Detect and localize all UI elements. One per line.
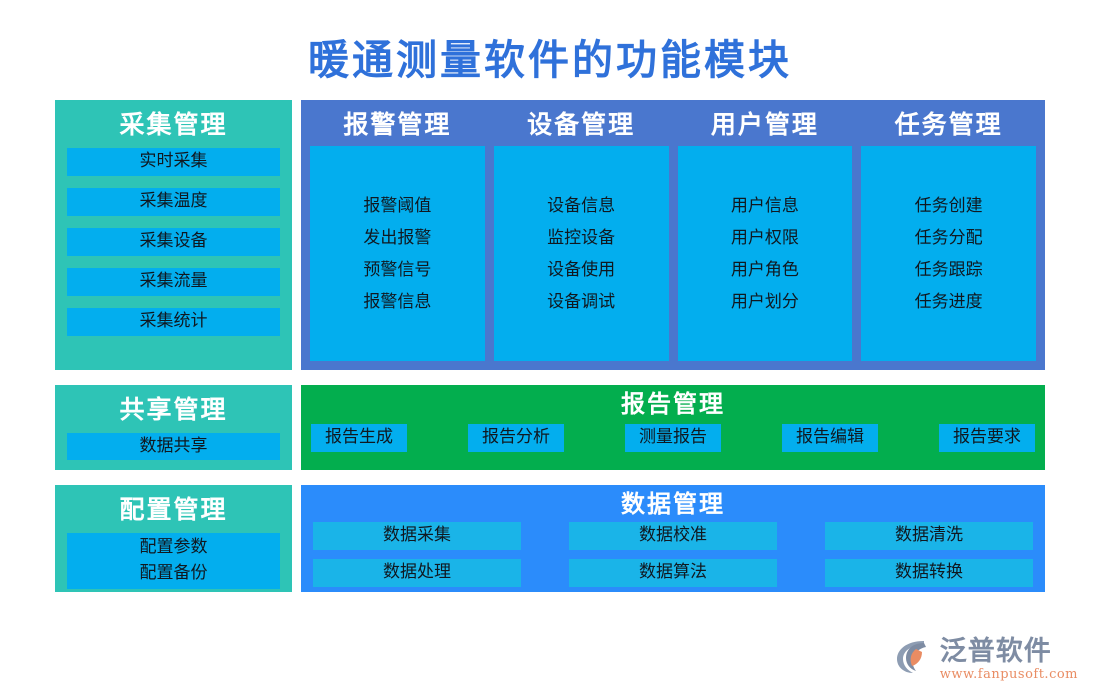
sub-item-monitor-device[interactable]: 监控设备 bbox=[547, 227, 615, 249]
sub-item-user-info[interactable]: 用户信息 bbox=[731, 195, 799, 217]
panel-title-sharing-management: 共享管理 bbox=[119, 393, 227, 427]
panel-config-management[interactable]: 配置管理 配置参数 配置备份 bbox=[55, 485, 292, 592]
sub-item-alarm-threshold[interactable]: 报警阈值 bbox=[363, 195, 431, 217]
panel-title-task-management: 任务管理 bbox=[861, 106, 1036, 144]
diagram-canvas: 暖通测量软件的功能模块 采集管理 实时采集 采集温度 采集设备 采集流量 采集统… bbox=[0, 0, 1100, 700]
chip-group-config-items[interactable]: 配置参数 配置备份 bbox=[67, 533, 280, 589]
sub-item-warning-signal[interactable]: 预警信号 bbox=[363, 259, 431, 281]
panel-title-user-management: 用户管理 bbox=[678, 106, 853, 144]
panel-title-data-management: 数据管理 bbox=[313, 488, 1033, 520]
data-cell-data-cleaning[interactable]: 数据清洗 bbox=[825, 522, 1033, 550]
data-cell-data-processing[interactable]: 数据处理 bbox=[313, 559, 521, 587]
panel-collection-management[interactable]: 采集管理 实时采集 采集温度 采集设备 采集流量 采集统计 bbox=[55, 100, 292, 370]
sub-item-issue-alarm[interactable]: 发出报警 bbox=[363, 227, 431, 249]
data-cell-data-calibration[interactable]: 数据校准 bbox=[569, 522, 777, 550]
panel-alarm-management[interactable]: 报警管理 报警阈值 发出报警 预警信号 报警信息 bbox=[310, 106, 485, 361]
sub-item-device-info[interactable]: 设备信息 bbox=[547, 195, 615, 217]
panel-core-modules: 报警管理 报警阈值 发出报警 预警信号 报警信息 设备管理 设备信息 监控设备 … bbox=[301, 100, 1045, 370]
sub-box-alarm-management: 报警阈值 发出报警 预警信号 报警信息 bbox=[310, 146, 485, 361]
logo-website-url: www.fanpusoft.com bbox=[940, 666, 1078, 684]
button-report-requirements[interactable]: 报告要求 bbox=[939, 424, 1035, 452]
panel-report-management: 报告管理 报告生成 报告分析 测量报告 报告编辑 报告要求 bbox=[301, 385, 1045, 470]
row-sharing-and-report: 共享管理 数据共享 报告管理 报告生成 报告分析 测量报告 报告编辑 报告要求 bbox=[55, 385, 1045, 470]
panel-sharing-management[interactable]: 共享管理 数据共享 bbox=[55, 385, 292, 470]
button-report-generate[interactable]: 报告生成 bbox=[311, 424, 407, 452]
button-report-analysis[interactable]: 报告分析 bbox=[468, 424, 564, 452]
data-cell-data-collection[interactable]: 数据采集 bbox=[313, 522, 521, 550]
page-title: 暖通测量软件的功能模块 bbox=[0, 26, 1100, 86]
panel-title-alarm-management: 报警管理 bbox=[310, 106, 485, 144]
chip-collect-flow[interactable]: 采集流量 bbox=[67, 268, 280, 296]
sub-item-user-grouping[interactable]: 用户划分 bbox=[731, 291, 799, 313]
row-collection-and-modules: 采集管理 实时采集 采集温度 采集设备 采集流量 采集统计 报警管理 报警阈值 … bbox=[55, 100, 1045, 370]
chip-realtime-collection[interactable]: 实时采集 bbox=[67, 148, 280, 176]
data-cell-data-conversion[interactable]: 数据转换 bbox=[825, 559, 1033, 587]
sub-item-task-progress[interactable]: 任务进度 bbox=[915, 291, 983, 313]
button-measurement-report[interactable]: 测量报告 bbox=[625, 424, 721, 452]
panel-data-management: 数据管理 数据采集 数据校准 数据清洗 数据处理 数据算法 数据转换 bbox=[301, 485, 1045, 592]
panel-user-management[interactable]: 用户管理 用户信息 用户权限 用户角色 用户划分 bbox=[678, 106, 853, 361]
logo-company-name: 泛普软件 bbox=[940, 637, 1078, 666]
logo-text-block: 泛普软件 www.fanpusoft.com bbox=[940, 637, 1078, 684]
panel-title-report-management: 报告管理 bbox=[311, 388, 1035, 420]
panel-device-management[interactable]: 设备管理 设备信息 监控设备 设备使用 设备调试 bbox=[494, 106, 669, 361]
row-config-and-data: 配置管理 配置参数 配置备份 数据管理 数据采集 数据校准 数据清洗 数据处理 … bbox=[55, 485, 1045, 592]
sub-item-user-role[interactable]: 用户角色 bbox=[731, 259, 799, 281]
panel-title-device-management: 设备管理 bbox=[494, 106, 669, 144]
panel-task-management[interactable]: 任务管理 任务创建 任务分配 任务跟踪 任务进度 bbox=[861, 106, 1036, 361]
chip-collect-statistics[interactable]: 采集统计 bbox=[67, 308, 280, 336]
panel-title-config-management: 配置管理 bbox=[119, 493, 227, 527]
panel-title-collection-management: 采集管理 bbox=[119, 108, 227, 142]
brand-logo: 泛普软件 www.fanpusoft.com bbox=[894, 637, 1078, 684]
button-report-edit[interactable]: 报告编辑 bbox=[782, 424, 878, 452]
chip-config-parameters[interactable]: 配置参数 bbox=[67, 534, 280, 560]
sub-item-task-create[interactable]: 任务创建 bbox=[915, 195, 983, 217]
chip-data-sharing[interactable]: 数据共享 bbox=[67, 433, 280, 460]
sub-item-device-debug[interactable]: 设备调试 bbox=[547, 291, 615, 313]
sub-item-user-permission[interactable]: 用户权限 bbox=[731, 227, 799, 249]
sub-box-task-management: 任务创建 任务分配 任务跟踪 任务进度 bbox=[861, 146, 1036, 361]
sub-item-task-assign[interactable]: 任务分配 bbox=[915, 227, 983, 249]
report-button-row: 报告生成 报告分析 测量报告 报告编辑 报告要求 bbox=[311, 424, 1035, 452]
chip-collect-device[interactable]: 采集设备 bbox=[67, 228, 280, 256]
data-cell-data-algorithm[interactable]: 数据算法 bbox=[569, 559, 777, 587]
sub-item-alarm-info[interactable]: 报警信息 bbox=[363, 291, 431, 313]
swoosh-logo-icon bbox=[894, 637, 934, 677]
chip-collect-temperature[interactable]: 采集温度 bbox=[67, 188, 280, 216]
data-management-grid: 数据采集 数据校准 数据清洗 数据处理 数据算法 数据转换 bbox=[313, 522, 1033, 587]
chip-config-backup[interactable]: 配置备份 bbox=[67, 560, 280, 586]
sub-box-device-management: 设备信息 监控设备 设备使用 设备调试 bbox=[494, 146, 669, 361]
sub-item-task-track[interactable]: 任务跟踪 bbox=[915, 259, 983, 281]
core-modules-columns: 报警管理 报警阈值 发出报警 预警信号 报警信息 设备管理 设备信息 监控设备 … bbox=[310, 106, 1036, 361]
sub-box-user-management: 用户信息 用户权限 用户角色 用户划分 bbox=[678, 146, 853, 361]
sub-item-device-usage[interactable]: 设备使用 bbox=[547, 259, 615, 281]
